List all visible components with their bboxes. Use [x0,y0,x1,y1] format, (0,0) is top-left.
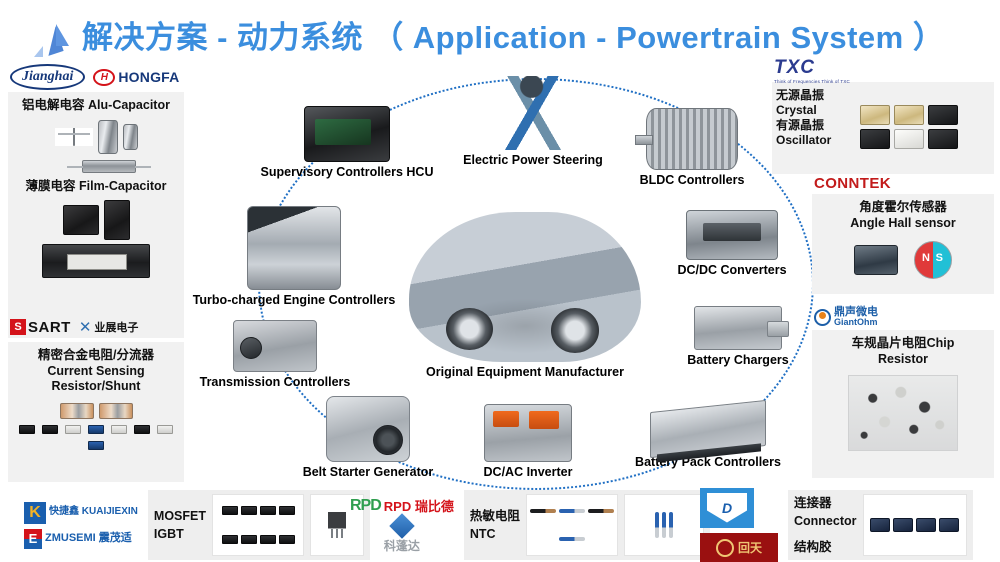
shunt-title: 精密合金电阻/分流器 Current Sensing Resistor/Shun… [12,346,180,397]
brand-keputa-label: 科蓬达 [384,537,420,554]
page-title-cn: 解决方案 - 动力系统 [82,20,363,55]
bottom-group-ntc-brands: RPD RPD 瑞比德 科蓬达 [350,496,464,554]
connector-photos [863,494,967,556]
chip-resistor-photo-7 [157,425,173,434]
oscillator-photo-2 [894,129,924,149]
brand-sart-label: SART [28,319,71,336]
brand-yezhan-label: 业展电子 [94,319,138,335]
node-charger[interactable]: Battery Chargers [662,306,814,368]
axial-capacitor-photo [55,128,93,146]
alu-capacitor-title: 铝电解电容 Alu-Capacitor [12,96,180,116]
brand-kuaijiexin: K 快捷鑫 KUAIJIEXIN [24,502,138,524]
brand-conntek-label: CONNTEK [814,175,891,192]
car-cutaway-icon [409,212,641,362]
bottom-vendor-strip: K 快捷鑫 KUAIJIEXIN E ZMUSEMI 震茂适 MOSFET IG… [0,488,1000,562]
node-turbo[interactable]: Turbo-charged Engine Controllers [188,206,400,308]
shunt-title-en2: Resistor/Shunt [12,379,180,395]
bldc-motor-icon [646,108,738,170]
panel-capacitors-brands: Jianghai H HONGFA [8,62,184,92]
chip-resistor-scatter [816,369,990,451]
connector-housing-4 [939,518,959,532]
ntc-en-label: NTC [470,525,520,543]
connector-en-label: Connector [794,512,857,530]
bottom-group-ntc-body: 热敏电阻 NTC [464,490,710,560]
shunt-title-en: Current Sensing [12,364,180,380]
alu-capacitor-en: Alu-Capacitor [88,98,170,112]
sart-mark-icon: S [10,319,26,335]
hall-sensor-en: Angle Hall sensor [816,216,990,232]
film-capacitor-cn: 薄膜电容 [25,179,75,193]
smd-package-7 [260,535,276,544]
bottom-group-mosfet-brands: K 快捷鑫 KUAIJIEXIN E ZMUSEMI 震茂适 [24,502,148,549]
node-bsg-label: Belt Starter Generator [286,465,450,480]
node-oem-center: Original Equipment Manufacturer [408,212,642,380]
smd-package-8 [279,535,295,544]
adhesive-brand-icon: 回天 [700,533,778,562]
panel-current-sensing-body: 精密合金电阻/分流器 Current Sensing Resistor/Shun… [8,342,184,482]
bsg-icon [326,396,410,462]
crystal-photo-1 [860,105,890,125]
smd-package-4 [279,506,295,515]
igbt-label: IGBT [154,525,206,543]
node-charger-label: Battery Chargers [662,353,814,368]
slide-canvas: 解决方案 - 动力系统 （ Application - Powertrain S… [0,0,1000,562]
oem-center-label: Original Equipment Manufacturer [408,365,642,380]
panel-hall-sensor: CONNTEK 角度霍尔传感器 Angle Hall sensor [812,172,994,294]
ecu-module-icon [304,106,390,162]
connector-shield-icon: D [707,493,747,523]
panel-current-sensing-brands: S SART ✕ 业展电子 [8,312,184,342]
shunt-resistor-photo [60,403,94,419]
ntc-probe-2 [559,509,585,513]
node-eps-image [452,76,614,150]
connector-cn-label: 连接器 [794,494,857,512]
hongfa-mark-icon: H [93,69,115,86]
ntc-probe-4 [559,537,585,541]
node-hcu-image [258,106,436,162]
mosfet-label: MOSFET [154,507,206,525]
film-capacitor-box-photo [63,205,99,235]
panel-chip-resistor: 鼎声微电 GiantOhm 车规晶片电阻Chip Resistor [812,304,994,478]
hall-motor-photo [854,245,898,275]
brand-txc-label: TXC [774,57,850,79]
node-dcdc-label: DC/DC Converters [648,263,816,278]
engine-icon [247,206,341,290]
radial-capacitor-photo [98,120,118,154]
chip-resistor-photo-5 [111,425,127,434]
node-eps[interactable]: Electric Power Steering [452,76,614,168]
node-bldc-image [608,108,776,170]
to220-package-icon [328,512,346,538]
magnet-ns-icon [914,241,952,279]
node-pack-image [620,406,796,452]
bottom-group-mosfet: K 快捷鑫 KUAIJIEXIN E ZMUSEMI 震茂适 MOSFET IG… [24,488,370,562]
node-turbo-image [188,206,400,290]
panel-txc-body: 无源晶振 Crystal 有源晶振 Oscillator [772,82,994,174]
page-title-en: （ Application - Powertrain System ） [372,20,944,55]
page-title: 解决方案 - 动力系统 （ Application - Powertrain S… [82,12,944,57]
power-module-photo [42,244,150,278]
film-capacitor-title: 薄膜电容 Film-Capacitor [12,177,180,197]
smd-package-1 [222,506,238,515]
mosfet-igbt-label: MOSFET IGBT [154,507,206,543]
alu-capacitor-photos [12,116,180,160]
node-hcu[interactable]: Supervisory Controllers HCU [258,106,436,180]
brand-hongfa-label: HONGFA [118,69,179,85]
shunt-title-cn: 精密合金电阻/分流器 [12,348,180,364]
chip-resistor-cn: 车规晶片电阻Chip [816,336,990,352]
zmusemi-mark-icon: E [24,529,42,549]
node-dcdc-image [648,210,816,260]
brand-zmusemi: E ZMUSEMI 震茂适 [24,529,138,549]
chip-resistor-photo-3 [65,425,81,434]
ntc-cn-label: 热敏电阻 [470,507,520,525]
brand-sart: S SART [10,314,71,340]
chip-resistor-title: 车规晶片电阻Chip Resistor [816,334,990,369]
bottom-group-connector-body: 连接器 Connector 结构胶 [788,490,973,560]
panel-capacitors-body: 铝电解电容 Alu-Capacitor 薄膜电容 Film-Capacitor [8,92,184,338]
chip-resistor-photo-2 [42,425,58,434]
node-pack-label: Battery Pack Controllers [620,455,796,470]
chip-resistor-photo-4 [88,425,104,434]
bottom-group-connector: D 回天 连接器 Connector 结构胶 [700,488,973,562]
panel-txc-brand: TXC Think of Frequencies Think of TXC [772,58,994,82]
adhesive-circle-icon [716,539,734,557]
node-eps-label: Electric Power Steering [452,153,614,168]
node-dcdc[interactable]: DC/DC Converters [648,210,816,278]
adhesive-cn-label: 结构胶 [794,538,857,556]
tcu-module-icon [233,320,317,372]
brand-hongfa: H HONGFA [93,64,179,90]
crystal-en: Crystal [776,103,854,118]
oscillator-photo-3 [928,129,958,149]
oscillator-en: Oscillator [776,133,854,148]
chip-resistor-en: Resistor [816,352,990,368]
chip-resistor-photo-8 [88,441,104,450]
steering-assembly-icon [498,76,568,150]
node-tcu-image [192,320,358,372]
oscillator-photo-1 [860,129,890,149]
bottom-group-ntc: RPD RPD 瑞比德 科蓬达 热敏电阻 NTC [350,488,710,562]
node-dcac-label: DC/AC Inverter [452,465,604,480]
igbt-module-photo-row [12,244,180,278]
film-capacitor-box-photo-2 [104,200,130,240]
brand-giantohm: 鼎声微电 GiantOhm [814,304,878,330]
film-capacitor-photos [12,196,180,244]
radial-capacitor-photo-2 [123,124,138,150]
battery-charger-icon [694,306,782,350]
panel-giantohm-body: 车规晶片电阻Chip Resistor [812,330,994,478]
smd-package-3 [260,506,276,515]
node-bldc-label: BLDC Controllers [608,173,776,188]
panel-crystal-oscillator: TXC Think of Frequencies Think of TXC 无源… [772,58,994,174]
crystal-line: 无源晶振 Crystal 有源晶振 Oscillator [776,86,854,150]
connector-housing-1 [870,518,890,532]
shunt-resistor-photo-2 [99,403,133,419]
kuaijiexin-mark-icon: K [24,502,46,524]
brand-kuaijiexin-label: 快捷鑫 KUAIJIEXIN [49,507,138,518]
snap-in-capacitor-photo [82,160,136,173]
node-tcu-label: Transmission Controllers [192,375,358,390]
ntc-harness-1 [655,512,659,538]
node-dcac[interactable]: DC/AC Inverter [452,404,604,480]
panel-giantohm-brand: 鼎声微电 GiantOhm [812,304,994,330]
crystal-photo-2 [894,105,924,125]
smd-package-2 [241,506,257,515]
connector-housing-2 [893,518,913,532]
brand-zmusemi-label: ZMUSEMI 震茂适 [45,533,132,545]
mosfet-package-photos [212,494,304,556]
ntc-harness-3 [669,512,673,538]
film-capacitor-en: Film-Capacitor [79,179,167,193]
bottom-group-mosfet-body: MOSFET IGBT [148,490,370,560]
crystal-photos [860,86,990,168]
ntc-harness-2 [662,512,666,538]
dcdc-converter-icon [686,210,778,260]
node-hcu-label: Supervisory Controllers HCU [258,165,436,180]
panel-capacitors: Jianghai H HONGFA 铝电解电容 Alu-Capacitor 薄膜… [8,62,184,338]
node-pack[interactable]: Battery Pack Controllers [620,406,796,470]
chip-resistor-photo-6 [134,425,150,434]
hall-sensor-title: 角度霍尔传感器 Angle Hall sensor [816,198,990,233]
bottom-group-connector-brands: D 回天 [700,488,788,562]
ntc-probe-1 [530,509,556,513]
ntc-harness-photos [624,494,704,556]
oem-car-image [408,212,642,362]
yezhan-mark-icon: ✕ [79,318,92,336]
alu-capacitor-cn: 铝电解电容 [22,98,85,112]
brand-yezhan: ✕ 业展电子 [79,314,139,340]
ntc-sensor-photos [526,494,618,556]
slide-header: 解决方案 - 动力系统 （ Application - Powertrain S… [0,8,1000,60]
brand-txc-tagline: Think of Frequencies Think of TXC [774,79,850,84]
ntc-probe-3 [588,509,614,513]
node-dcac-image [452,404,604,462]
node-bsg[interactable]: Belt Starter Generator [286,396,450,480]
panel-conntek-brand: CONNTEK [812,172,994,194]
node-tcu[interactable]: Transmission Controllers [192,320,358,390]
chip-resistor-scatter-photo [848,375,958,451]
rpd-mark-icon: RPD [350,497,381,515]
brand-giantohm-en: GiantOhm [834,318,878,327]
oscillator-cn: 有源晶振 [776,118,854,133]
brand-jianghai: Jianghai [10,64,85,90]
hall-sensor-photos [816,233,990,279]
smd-package-6 [241,535,257,544]
chip-resistor-photo [19,425,35,434]
adhesive-brand-label: 回天 [738,539,762,556]
hall-sensor-cn: 角度霍尔传感器 [816,200,990,216]
brand-rpd-label: RPD 瑞比德 [384,496,454,515]
giantohm-mark-icon [814,309,831,326]
keputa-mark-icon [389,513,414,538]
alu-capacitor-photos-2 [12,160,180,177]
connector-label-block: 连接器 Connector 结构胶 [794,494,857,556]
chip-resistor-photos [16,419,176,450]
panel-current-sensing: S SART ✕ 业展电子 精密合金电阻/分流器 Current Sensing… [8,312,184,482]
node-turbo-label: Turbo-charged Engine Controllers [188,293,400,308]
panel-conntek-body: 角度霍尔传感器 Angle Hall sensor [812,194,994,294]
connector-brand-icon: D [700,488,754,528]
shunt-photos [12,397,180,419]
inverter-icon [484,404,572,462]
ntc-label-block: 热敏电阻 NTC [470,507,520,543]
crystal-photo-3 [928,105,958,125]
battery-pack-icon [650,400,766,458]
brand-rpd: RPD RPD 瑞比德 [350,496,454,515]
smd-package-5 [222,535,238,544]
node-bsg-image [286,396,450,462]
crystal-cn: 无源晶振 [776,88,854,103]
node-bldc[interactable]: BLDC Controllers [608,108,776,188]
connector-housing-3 [916,518,936,532]
node-charger-image [662,306,814,350]
